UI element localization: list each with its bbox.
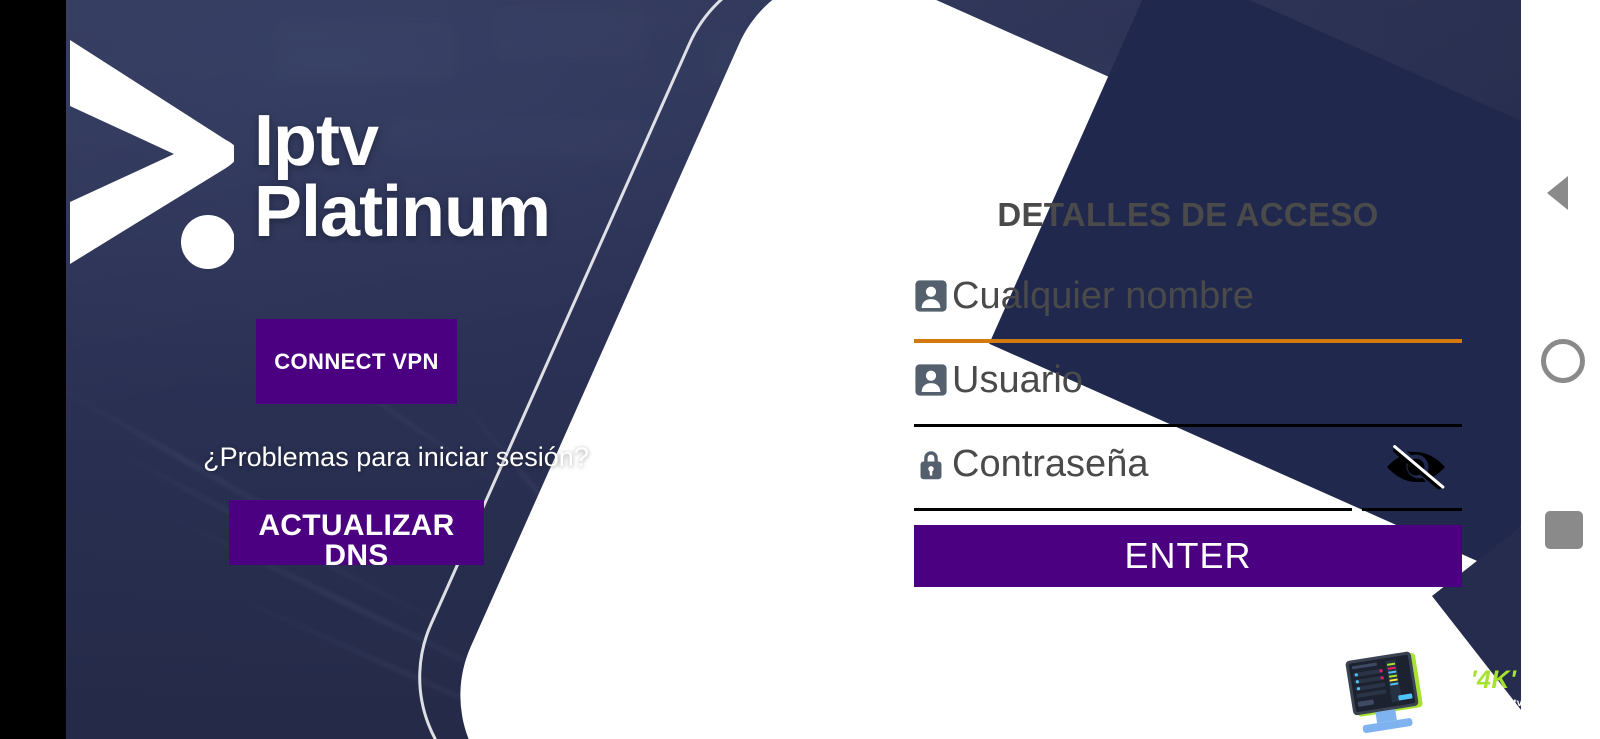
field-any-name-value: Cualquier nombre <box>952 277 1254 315</box>
system-navigation-bar <box>1521 0 1600 739</box>
update-dns-button[interactable]: ACTUALIZAR DNS <box>229 500 484 565</box>
back-nav-button[interactable] <box>1547 176 1568 210</box>
person-icon <box>914 363 948 397</box>
field-username-value: Usuario <box>952 361 1083 399</box>
lock-icon <box>914 447 948 481</box>
toggle-password-visibility-button[interactable] <box>1376 441 1456 493</box>
device-bezel-left <box>0 0 66 739</box>
person-icon <box>914 279 948 313</box>
eye-off-icon <box>1381 441 1451 493</box>
connect-vpn-button[interactable]: CONNECT VPN <box>256 319 457 404</box>
watermark-4k-text: '4K' <box>1471 666 1517 694</box>
field-username-underline <box>914 424 1462 427</box>
brand-name: Iptv Platinum <box>254 106 550 247</box>
recents-nav-button[interactable] <box>1545 511 1583 549</box>
field-any-name[interactable]: Cualquier nombre <box>914 267 1462 343</box>
form-title: DETALLES DE ACCESO <box>914 196 1462 234</box>
desktop-monitor-icon <box>1326 640 1438 739</box>
enter-button[interactable]: ENTER <box>914 525 1462 587</box>
field-any-name-underline <box>914 339 1462 343</box>
left-panel: Iptv Platinum CONNECT VPN ¿Problemas par… <box>66 0 726 739</box>
home-nav-button[interactable] <box>1541 339 1585 383</box>
brand-line-1: Iptv <box>254 101 378 181</box>
field-password[interactable]: Contraseña <box>914 435 1462 511</box>
brand-line-2: Platinum <box>254 177 550 248</box>
play-chevron-logo-icon <box>66 28 234 272</box>
field-password-underline <box>914 508 1352 511</box>
field-password-value: Contraseña <box>952 445 1148 483</box>
app-screen: Iptv Platinum CONNECT VPN ¿Problemas par… <box>0 0 1600 739</box>
field-password-eye-underline <box>1362 508 1462 511</box>
login-form: DETALLES DE ACCESO Cualquier nombre <box>914 196 1462 587</box>
brand-logo: Iptv Platinum <box>66 28 550 272</box>
field-username[interactable]: Usuario <box>914 351 1462 427</box>
login-help-text: ¿Problemas para iniciar sesión? <box>66 442 726 473</box>
watermark-left-text: ┐ <box>1452 666 1470 694</box>
